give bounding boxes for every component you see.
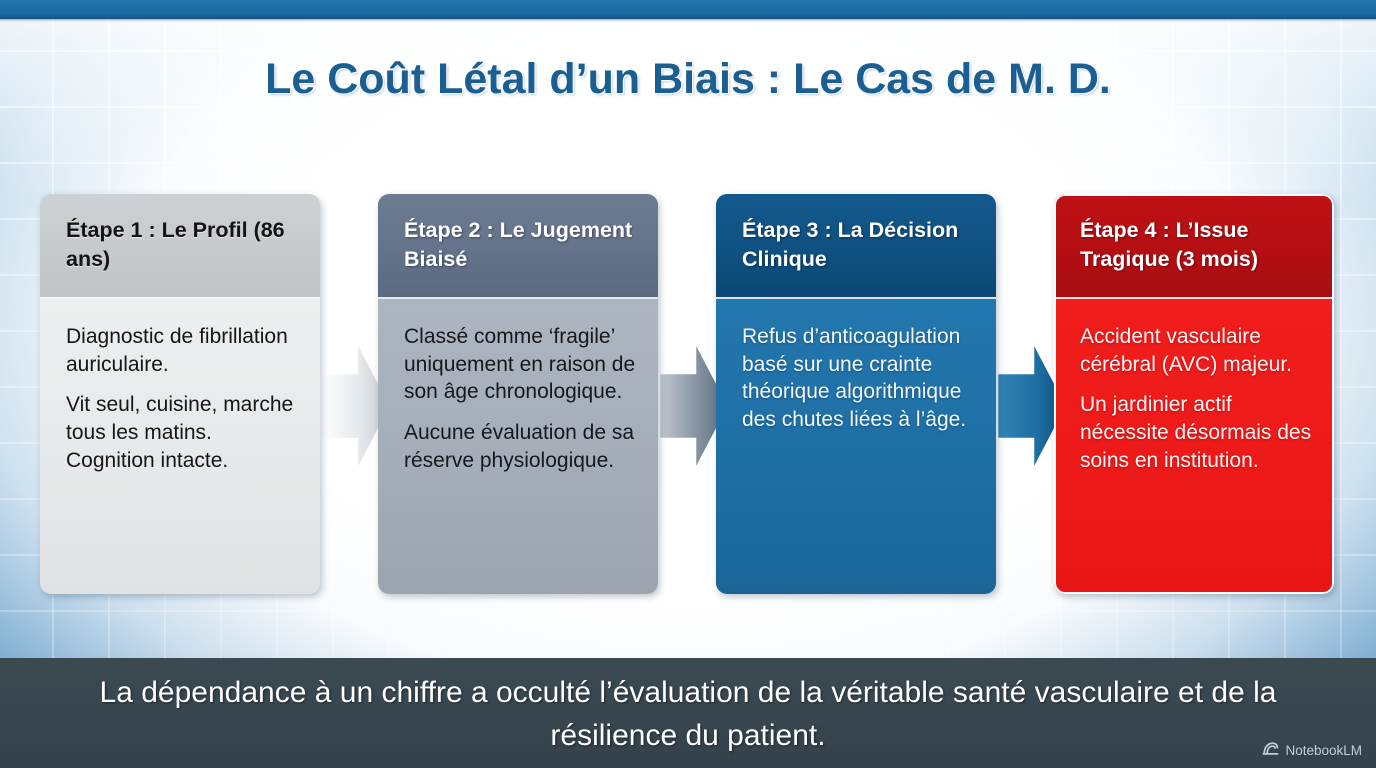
top-accent-bar-shadow	[0, 19, 1376, 22]
step-card-3-title: Étape 3 : La Décision Clinique	[742, 218, 958, 271]
notebooklm-label: NotebookLM	[1285, 743, 1362, 758]
step-card-4-divider	[1054, 297, 1334, 299]
step-card-2[interactable]: Étape 2 : Le Jugement Biaisé Classé comm…	[378, 194, 658, 594]
slide-title: Le Coût Létal d’un Biais : Le Cas de M. …	[0, 55, 1376, 104]
step-card-2-title: Étape 2 : Le Jugement Biaisé	[404, 218, 632, 271]
notebooklm-icon	[1262, 741, 1279, 759]
step-card-3-paragraph: Refus d’anticoagulation basé sur une cra…	[742, 323, 980, 434]
top-accent-bar	[0, 0, 1376, 19]
step-card-4-header: Étape 4 : L’Issue Tragique (3 mois)	[1054, 194, 1334, 299]
step-card-4-paragraph: Un jardinier actif nécessite désormais d…	[1080, 391, 1318, 474]
step-card-2-paragraph: Classé comme ‘fragile’ uniquement en rai…	[404, 323, 642, 406]
step-card-1-paragraph: Diagnostic de fibrillation auriculaire.	[66, 323, 304, 378]
step-card-4-title: Étape 4 : L’Issue Tragique (3 mois)	[1080, 218, 1258, 271]
step-card-4-paragraph: Accident vasculaire cérébral (AVC) majeu…	[1080, 323, 1318, 378]
step-card-3-divider	[716, 297, 996, 299]
slide-canvas: Le Coût Létal d’un Biais : Le Cas de M. …	[0, 0, 1376, 768]
step-card-2-header: Étape 2 : Le Jugement Biaisé	[378, 194, 658, 299]
step-card-2-divider	[378, 297, 658, 299]
footer-caption: La dépendance à un chiffre a occulté l’é…	[90, 672, 1286, 757]
step-card-1-title: Étape 1 : Le Profil (86 ans)	[66, 218, 285, 271]
step-card-1-body: Diagnostic de fibrillation auriculaire. …	[40, 299, 320, 594]
step-card-1-divider	[40, 297, 320, 299]
step-card-4[interactable]: Étape 4 : L’Issue Tragique (3 mois) Acci…	[1054, 194, 1334, 594]
step-card-1[interactable]: Étape 1 : Le Profil (86 ans) Diagnostic …	[40, 194, 320, 594]
step-card-4-body: Accident vasculaire cérébral (AVC) majeu…	[1054, 299, 1334, 594]
step-card-2-body: Classé comme ‘fragile’ uniquement en rai…	[378, 299, 658, 594]
step-card-3-body: Refus d’anticoagulation basé sur une cra…	[716, 299, 996, 594]
step-card-1-paragraph: Vit seul, cuisine, marche tous les matin…	[66, 391, 304, 474]
step-card-2-paragraph: Aucune évaluation de sa réserve physiolo…	[404, 419, 642, 474]
step-card-3[interactable]: Étape 3 : La Décision Clinique Refus d’a…	[716, 194, 996, 594]
step-card-3-header: Étape 3 : La Décision Clinique	[716, 194, 996, 299]
step-card-1-header: Étape 1 : Le Profil (86 ans)	[40, 194, 320, 299]
notebooklm-watermark: NotebookLM	[1262, 741, 1362, 759]
